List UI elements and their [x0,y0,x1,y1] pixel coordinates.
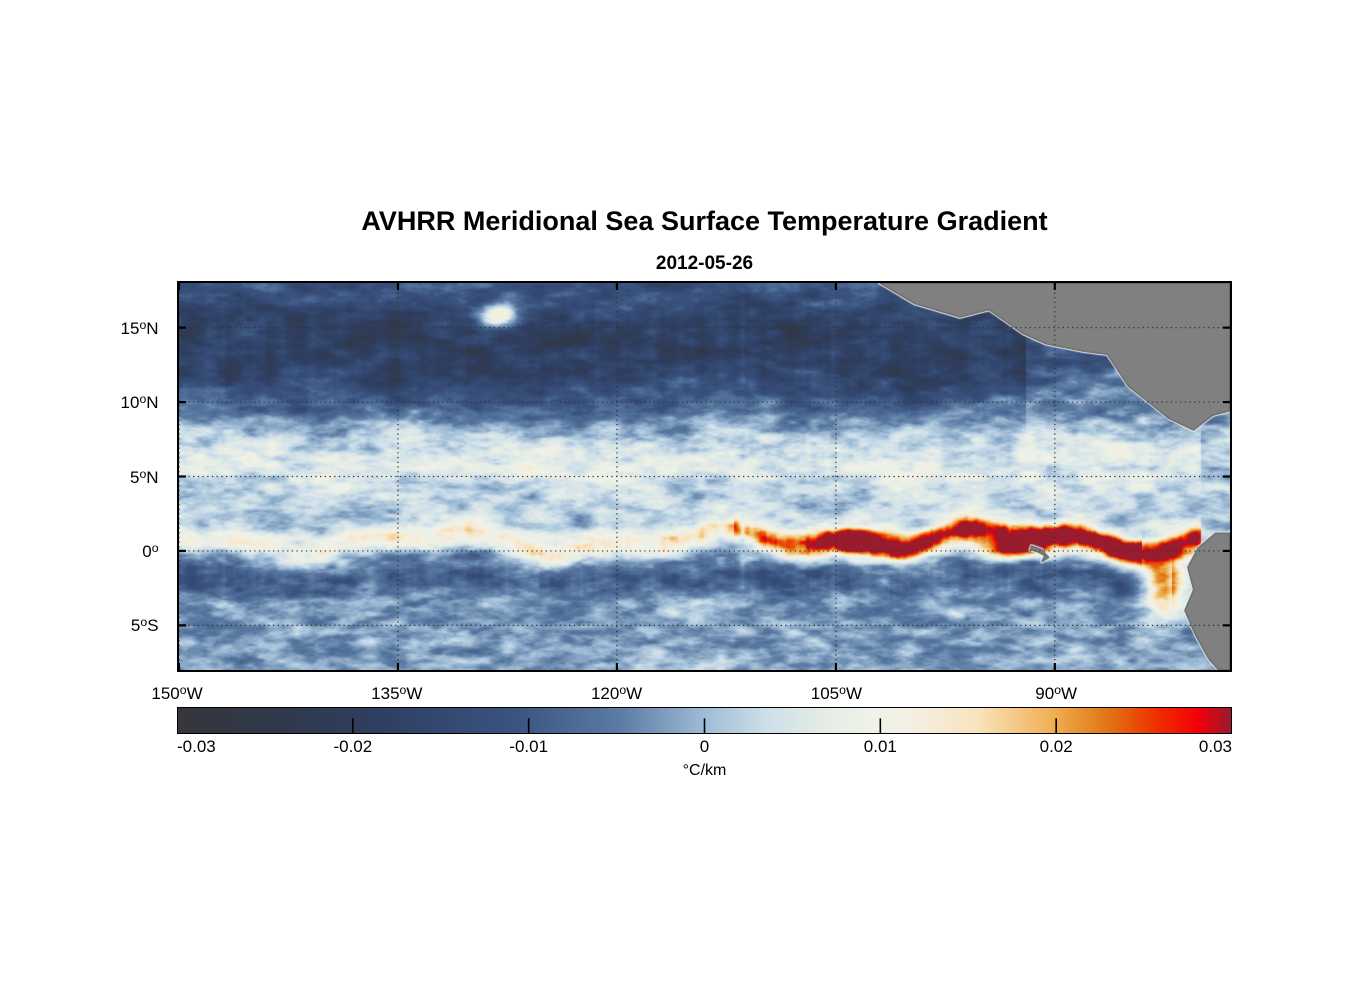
figure-subtitle-date: 2012-05-26 [177,253,1232,275]
y-tick-label-0: 0o [142,543,168,560]
colorbar-gradient [177,707,1232,734]
map-plot-area [177,281,1232,672]
sst-gradient-heatmap [179,283,1230,670]
page-title: AVHRR Meridional Sea Surface Temperature… [177,206,1232,237]
x-tick-label-150W: 150oW [151,685,202,702]
colorbar-tick-label-6: 0.03 [1199,738,1232,755]
y-tick-label-5N: 5oN [130,469,168,486]
colorbar-tick-labels: -0.03-0.02-0.0100.010.020.03 [177,738,1232,762]
y-tick-label-15N: 15oN [121,320,168,337]
y-tick-label-10N: 10oN [121,394,168,411]
x-tick-label-105W: 105oW [811,685,862,702]
colorbar [177,707,1232,734]
colorbar-unit-label: °C/km [177,762,1232,780]
colorbar-tick-label-4: 0.01 [864,738,897,755]
colorbar-tick-label-1: -0.02 [333,738,372,755]
x-tick-label-90W: 90oW [1035,685,1077,702]
figure-canvas: AVHRR Meridional Sea Surface Temperature… [0,0,1356,1000]
x-axis-tick-labels: 150oW135oW120oW105oW90oW [177,681,1232,707]
y-axis-tick-labels: 15oN 10oN 5oN 0o 5oS [0,281,168,672]
x-tick-label-135W: 135oW [371,685,422,702]
colorbar-tick-label-2: -0.01 [509,738,548,755]
y-tick-label-5S: 5oS [131,617,168,634]
x-tick-label-120W: 120oW [591,685,642,702]
colorbar-tick-label-3: 0 [700,738,709,755]
colorbar-tick-label-0: -0.03 [177,738,216,755]
colorbar-tick-label-5: 0.02 [1040,738,1073,755]
